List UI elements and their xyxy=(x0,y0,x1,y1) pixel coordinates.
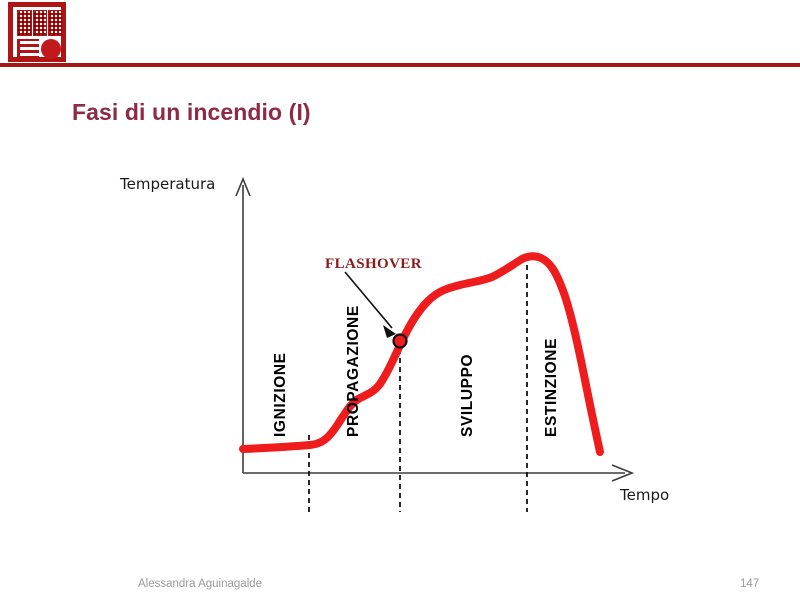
fire-phases-chart: Temperatura Tempo FLASHOVER IGNIZIONE PR… xyxy=(0,0,800,600)
phase-label-estinzione: ESTINZIONE xyxy=(543,338,560,437)
phase-label-ignizione: IGNIZIONE xyxy=(272,352,289,437)
flashover-label: FLASHOVER xyxy=(325,256,422,272)
flashover-marker-icon xyxy=(394,335,407,348)
x-axis-label: Tempo xyxy=(619,486,669,504)
footer-author: Alessandra Aguinagalde xyxy=(138,578,262,590)
phase-label-sviluppo: SVILUPPO xyxy=(459,354,476,437)
phase-label-propagazione: PROPAGAZIONE xyxy=(345,305,362,437)
y-axis xyxy=(236,179,250,473)
chart-svg: Temperatura Tempo FLASHOVER IGNIZIONE PR… xyxy=(0,0,800,600)
y-axis-label: Temperatura xyxy=(119,175,215,193)
footer-page-number: 147 xyxy=(740,578,759,590)
x-axis xyxy=(243,465,632,481)
